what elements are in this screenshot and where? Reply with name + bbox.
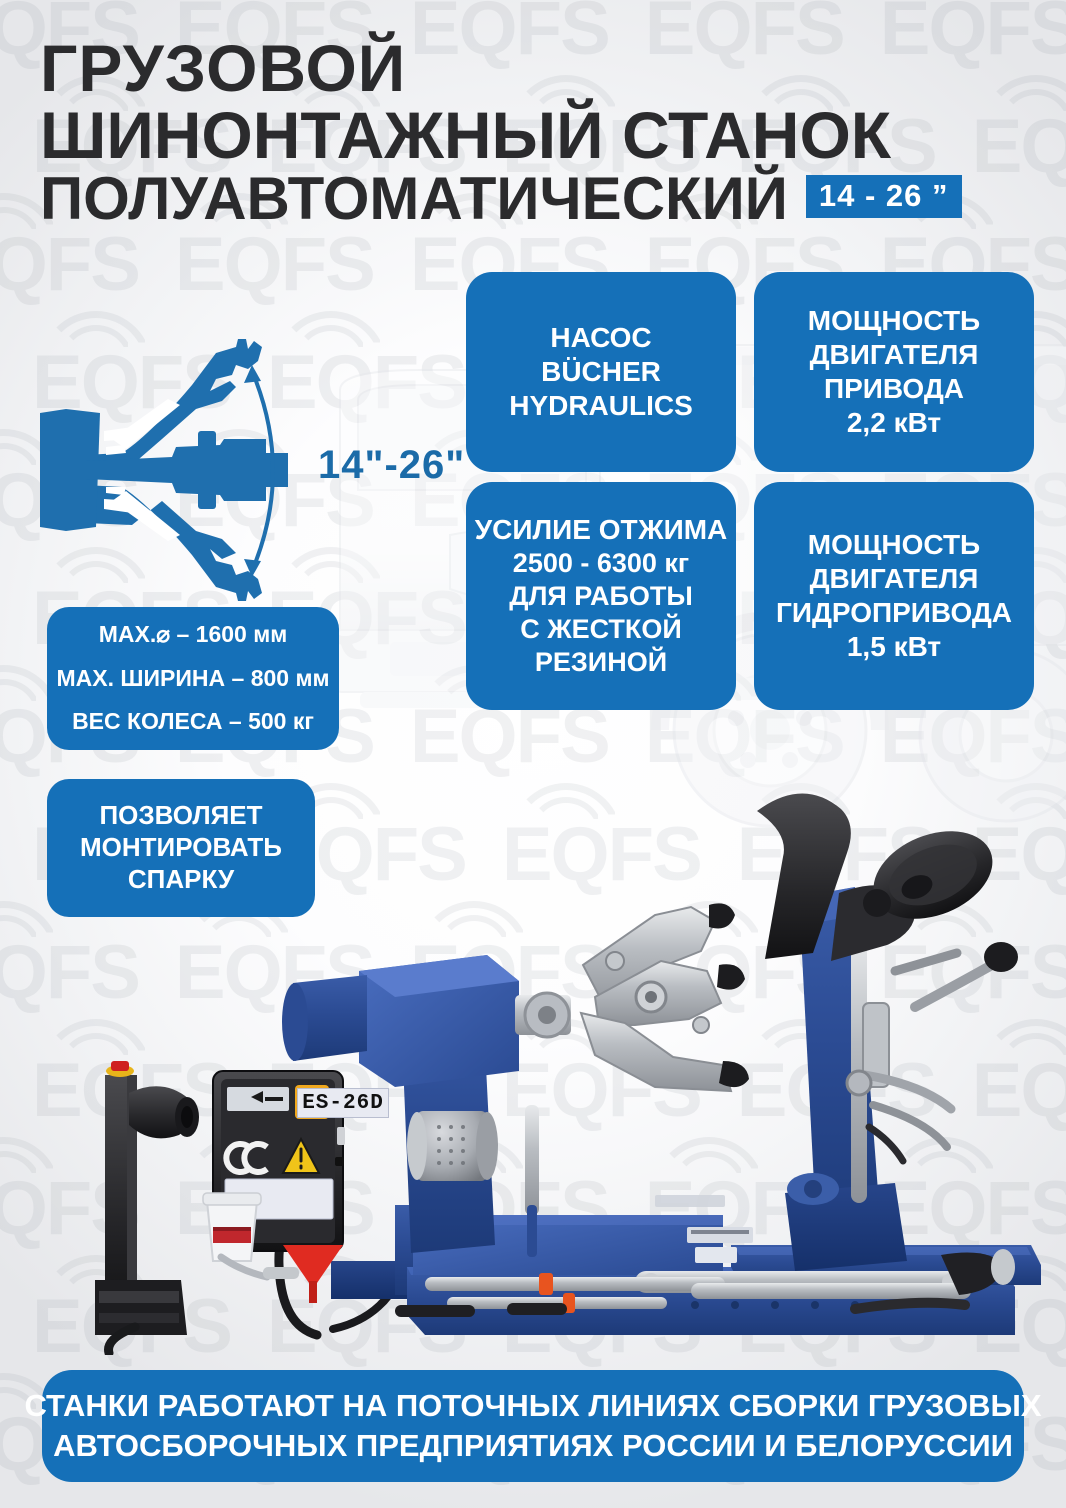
watermark-arc-inner-icon — [436, 0, 512, 9]
watermark-arc-outer-icon — [418, 0, 530, 13]
pump-box: НАСОС BÜCHER HYDRAULICS — [466, 272, 736, 472]
watermark-text: EQFS — [0, 227, 139, 303]
watermark-arc-inner-icon — [0, 1151, 42, 1189]
watermark-mark: EQFS — [880, 699, 1066, 775]
watermark-text: EQFS — [880, 699, 1066, 775]
force-line-3: ДЛЯ РАБОТЫ — [509, 580, 693, 613]
product-poster: EQFSEQFSEQFSEQFSEQFSEQFSEQFSEQFSEQFSEQFS… — [0, 0, 1066, 1508]
watermark-arc-inner-icon — [906, 0, 982, 9]
clamp-range-label: 14"-26" — [318, 443, 465, 488]
drive-motor-line-2: ДВИГАТЕЛЯ — [810, 338, 979, 372]
pump-line-1: НАСОС — [550, 321, 651, 355]
pump-line-3: HYDRAULICS — [509, 389, 693, 423]
watermark-arc-outer-icon — [183, 0, 295, 13]
watermark-arc-outer-icon — [888, 0, 1000, 13]
twin-line-1: ПОЗВОЛЯЕТ — [99, 800, 262, 832]
watermark-text: EQFS — [175, 227, 374, 303]
watermark-arc-inner-icon — [0, 679, 42, 717]
wheel-clamp-graphic: 14"-26" — [40, 335, 460, 605]
watermark-text: EQFS — [410, 699, 609, 775]
twin-wheel-mount-box: ПОЗВОЛЯЕТ МОНТИРОВАТЬ СПАРКУ — [47, 779, 315, 917]
drive-motor-power-box: МОЩНОСТЬ ДВИГАТЕЛЯ ПРИВОДА 2,2 кВт — [754, 272, 1034, 472]
footer-banner: СТАНКИ РАБОТАЮТ НА ПОТОЧНЫХ ЛИНИЯХ СБОРК… — [42, 1370, 1024, 1482]
footer-line-2: АВТОСБОРОЧНЫХ ПРЕДПРИЯТИЯХ РОССИИ И БЕЛО… — [53, 1426, 1013, 1466]
title-line-3: ПОЛУАВТОМАТИЧЕСКИЙ — [40, 171, 788, 226]
watermark-arc-inner-icon — [201, 0, 277, 9]
watermark-mark: EQFS — [645, 699, 844, 775]
watermark-mark: EQFS — [410, 699, 609, 775]
watermark-arc-inner-icon — [0, 443, 42, 481]
machine-model-plate: ES-26D — [297, 1088, 389, 1118]
drive-motor-line-1: МОЩНОСТЬ — [808, 304, 980, 338]
title-row-3: ПОЛУАВТОМАТИЧЕСКИЙ 14 - 26 ” — [40, 171, 1040, 226]
watermark-arc-inner-icon — [0, 207, 42, 245]
force-line-5: РЕЗИНОЙ — [535, 646, 667, 679]
wheel-dimensions-box: MAX.⌀ – 1600 мм MAX. ШИРИНА – 800 мм ВЕС… — [47, 607, 339, 750]
twin-line-3: СПАРКУ — [128, 864, 234, 896]
title-line-1: ГРУЗОВОЙ — [40, 38, 1040, 99]
footer-line-1: СТАНКИ РАБОТАЮТ НА ПОТОЧНЫХ ЛИНИЯХ СБОРК… — [24, 1386, 1041, 1426]
pedal-stand — [95, 1061, 199, 1353]
watermark-arc-outer-icon — [0, 1137, 60, 1193]
hydro-motor-value: 1,5 кВт — [847, 630, 941, 664]
poster-header: ГРУЗОВОЙ ШИНОНТАЖНЫЙ СТАНОК ПОЛУАВТОМАТИ… — [40, 38, 1040, 227]
twin-line-2: МОНТИРОВАТЬ — [80, 832, 282, 864]
watermark-arc-inner-icon — [671, 0, 747, 9]
drive-motor-line-3: ПРИВОДА — [824, 372, 964, 406]
watermark-arc-inner-icon — [0, 0, 42, 9]
dim-max-diameter: MAX.⌀ – 1600 мм — [99, 613, 288, 657]
dim-max-width: MAX. ШИРИНА – 800 мм — [57, 657, 330, 701]
title-line-2: ШИНОНТАЖНЫЙ СТАНОК — [40, 105, 1040, 166]
size-range-badge: 14 - 26 ” — [806, 175, 962, 218]
mounting-head-arm — [581, 903, 749, 1091]
hydraulic-motor-power-box: МОЩНОСТЬ ДВИГАТЕЛЯ ГИДРОПРИВОДА 1,5 кВт — [754, 482, 1034, 710]
watermark-arc-outer-icon — [0, 0, 60, 13]
watermark-mark: EQFS — [175, 227, 374, 303]
pump-line-2: BÜCHER — [541, 355, 661, 389]
hydro-motor-line-3: ГИДРОПРИВОДА — [776, 596, 1012, 630]
force-line-1: УСИЛИЕ ОТЖИМА — [475, 513, 728, 547]
hydro-motor-line-2: ДВИГАТЕЛЯ — [810, 562, 979, 596]
electric-motor — [407, 1111, 498, 1181]
watermark-arc-inner-icon — [0, 915, 42, 953]
dim-wheel-weight: ВЕС КОЛЕСА – 500 кг — [72, 700, 314, 744]
watermark-mark: EQFS — [0, 227, 139, 303]
watermark-arc-outer-icon — [0, 901, 60, 957]
drive-motor-value: 2,2 кВт — [847, 406, 941, 440]
force-line-4: С ЖЕСТКОЙ — [520, 613, 682, 646]
bead-breaker-tower — [757, 793, 1018, 1271]
hydro-motor-line-1: МОЩНОСТЬ — [808, 528, 980, 562]
watermark-text: EQFS — [645, 699, 844, 775]
watermark-arc-outer-icon — [653, 0, 765, 13]
bead-breaker-force-box: УСИЛИЕ ОТЖИМА 2500 - 6300 кг ДЛЯ РАБОТЫ … — [466, 482, 736, 710]
force-value: 2500 - 6300 кг — [513, 547, 689, 580]
